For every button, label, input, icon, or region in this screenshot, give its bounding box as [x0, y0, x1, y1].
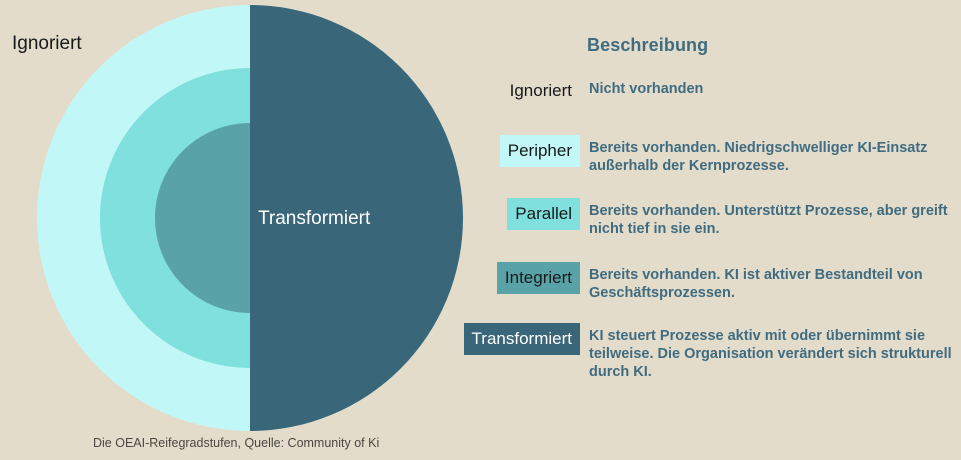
legend-row: Transformiert KI steuert Prozesse aktiv … [430, 323, 961, 381]
legend-description-integriert: Bereits vorhanden. KI ist aktiver Bestan… [580, 262, 961, 302]
status-badge-integriert: Integriert [497, 262, 580, 294]
diagram-label-ignoriert: Ignoriert [12, 34, 82, 53]
legend-row: Integriert Bereits vorhanden. KI ist akt… [430, 262, 961, 302]
diagram-label-transformiert: Transformiert [258, 209, 370, 228]
status-badge-peripher: Peripher [500, 135, 580, 167]
legend-badge-cell: Integriert [430, 262, 580, 294]
legend-description-parallel: Bereits vorhanden. Unterstützt Prozesse,… [580, 198, 961, 238]
infographic-canvas: Ignoriert Peripher Parallel Integriert T… [0, 0, 961, 460]
legend-row: Peripher Bereits vorhanden. Niedrigschwe… [430, 135, 961, 175]
status-badge-transformiert: Transformiert [464, 323, 580, 355]
diagram-caption: Die OEAI-Reifegradstufen, Quelle: Commun… [93, 436, 379, 450]
legend-badge-cell: Ignoriert [430, 76, 580, 107]
legend-description-ignoriert: Nicht vorhanden [580, 76, 961, 98]
legend-row: Ignoriert Nicht vorhanden [430, 76, 961, 107]
legend-badge-cell: Peripher [430, 135, 580, 167]
legend-row: Parallel Bereits vorhanden. Unterstützt … [430, 198, 961, 238]
legend-description-peripher: Bereits vorhanden. Niedrigschwelliger KI… [580, 135, 961, 175]
description-legend: Beschreibung Ignoriert Nicht vorhanden P… [430, 0, 961, 460]
legend-badge-cell: Transformiert [430, 323, 580, 355]
maturity-circle-diagram: Ignoriert Peripher Parallel Integriert T… [0, 0, 470, 460]
status-badge-ignoriert: Ignoriert [502, 76, 580, 107]
legend-badge-cell: Parallel [430, 198, 580, 230]
legend-description-transformiert: KI steuert Prozesse aktiv mit oder übern… [580, 323, 961, 381]
status-badge-parallel: Parallel [507, 198, 580, 230]
legend-header: Beschreibung [587, 35, 708, 56]
